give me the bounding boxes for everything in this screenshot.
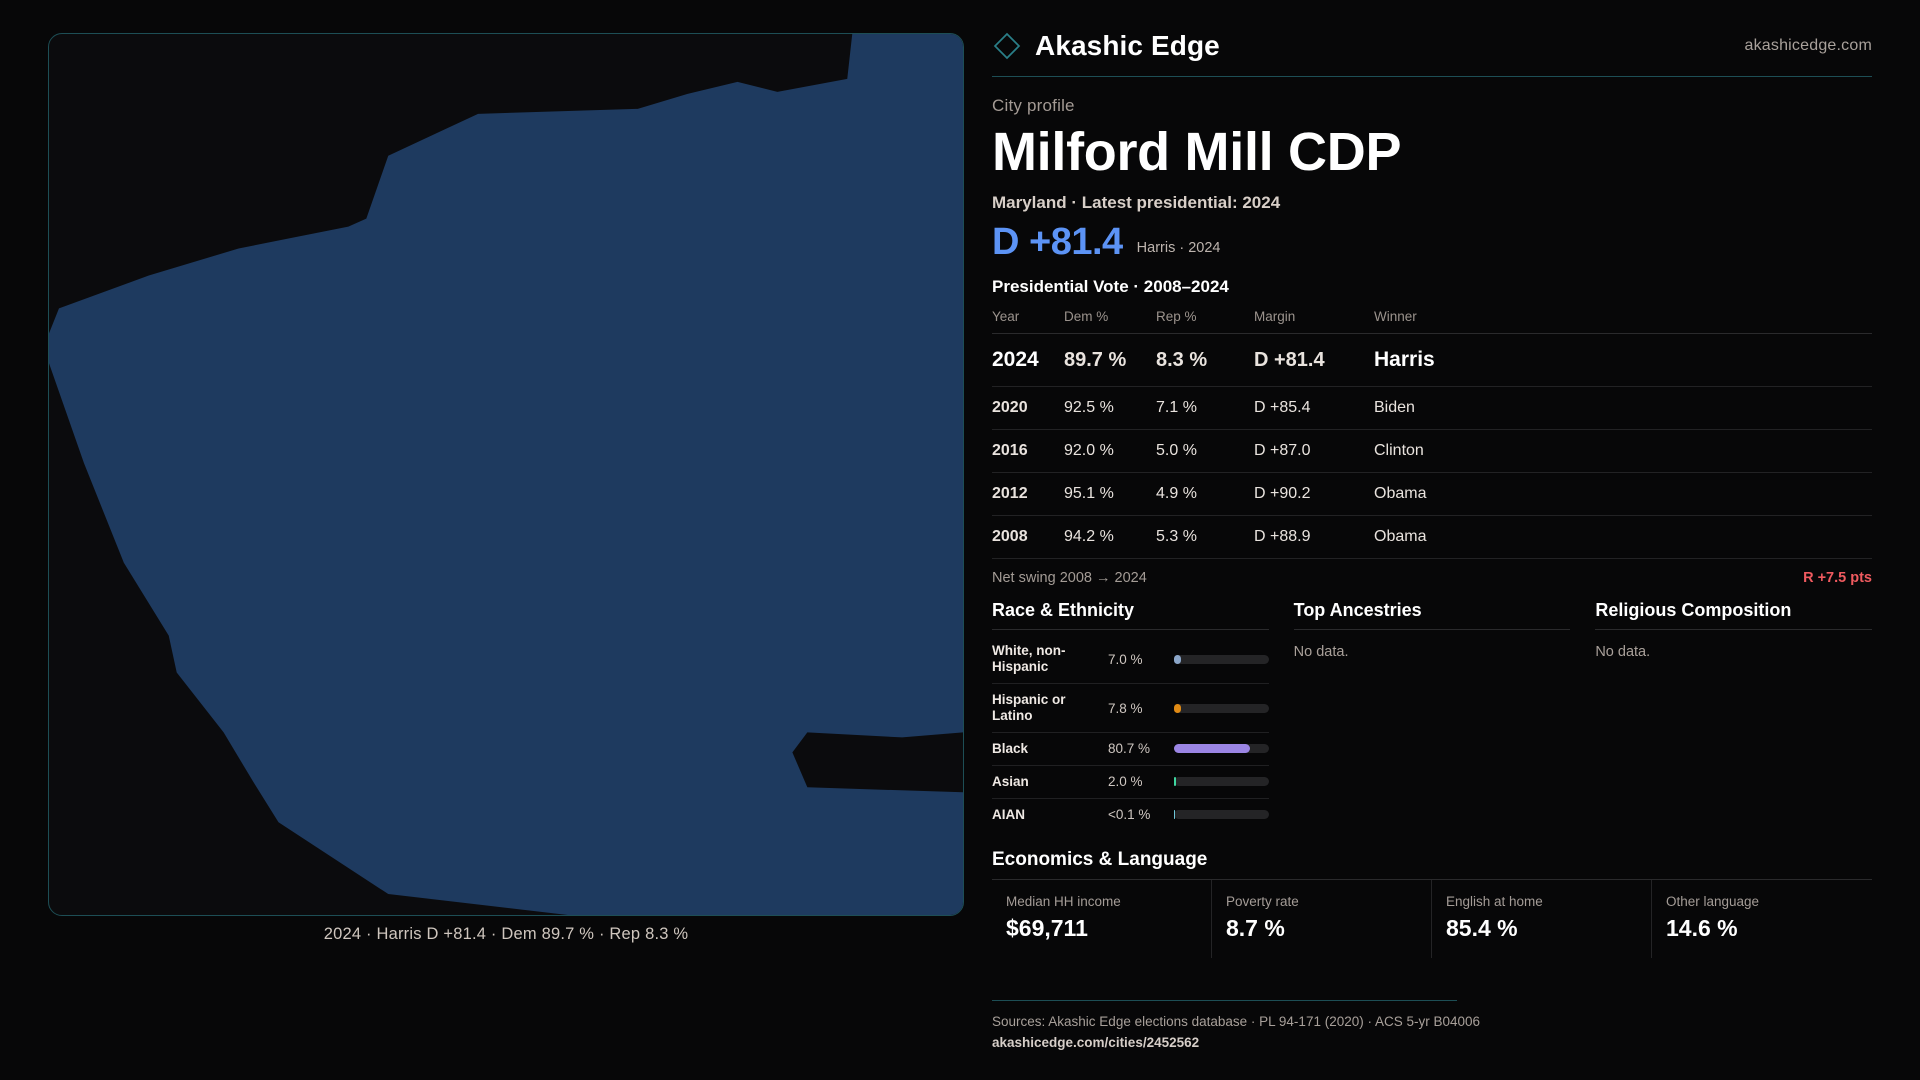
list-item: AIAN <0.1 % [992, 799, 1269, 831]
economics-section-title: Economics & Language [992, 849, 1872, 871]
ancestries-body: No data. [1294, 629, 1571, 660]
demographics-grid: Race & Ethnicity White, non-Hispanic 7.0… [992, 600, 1872, 831]
col-year: Year [992, 309, 1064, 334]
race-bar-track [1174, 744, 1269, 753]
stat-card: Poverty rate 8.7 % [1212, 880, 1432, 958]
cell-year: 2008 [992, 516, 1064, 559]
cell-year: 2012 [992, 473, 1064, 516]
list-item: White, non-Hispanic 7.0 % [992, 635, 1269, 684]
stat-value: $69,711 [1006, 915, 1193, 942]
stat-value: 85.4 % [1446, 915, 1633, 942]
race-label: AIAN [992, 807, 1100, 823]
cell-dem: 95.1 % [1064, 473, 1156, 516]
col-rep: Rep % [1156, 309, 1254, 334]
stat-card: Median HH income $69,711 [992, 880, 1212, 958]
cell-winner: Clinton [1374, 430, 1872, 473]
cell-winner: Obama [1374, 516, 1872, 559]
race-ethnicity-column: Race & Ethnicity White, non-Hispanic 7.0… [992, 600, 1269, 831]
brand-bar: Akashic Edge akashicedge.com [992, 30, 1872, 77]
city-boundary-polygon [49, 34, 963, 915]
table-row[interactable]: 2024 89.7 % 8.3 % D +81.4 Harris [992, 334, 1872, 387]
footer-permalink[interactable]: akashicedge.com/cities/2452562 [992, 1033, 1872, 1054]
headline-margin: D +81.4 Harris · 2024 [992, 223, 1872, 261]
brand-url: akashicedge.com [1744, 37, 1872, 55]
race-bar-track [1174, 810, 1269, 819]
cell-rep: 5.3 % [1156, 516, 1254, 559]
stat-label: English at home [1446, 894, 1633, 909]
table-header-row: Year Dem % Rep % Margin Winner [992, 309, 1872, 334]
cell-margin: D +90.2 [1254, 473, 1374, 516]
presidential-vote-table: Year Dem % Rep % Margin Winner 2024 89.7… [992, 309, 1872, 559]
cell-rep: 7.1 % [1156, 387, 1254, 430]
race-bar-track [1174, 704, 1269, 713]
religion-section-title: Religious Composition [1595, 600, 1872, 629]
brand-left: Akashic Edge [992, 30, 1220, 62]
race-value: 7.0 % [1108, 652, 1166, 667]
stat-value: 8.7 % [1226, 915, 1413, 942]
table-row[interactable]: 2016 92.0 % 5.0 % D +87.0 Clinton [992, 430, 1872, 473]
cell-year: 2024 [992, 334, 1064, 387]
page-title: Milford Mill CDP [992, 123, 1872, 181]
diamond-icon [992, 31, 1022, 61]
race-value: <0.1 % [1108, 807, 1166, 822]
cell-year: 2016 [992, 430, 1064, 473]
list-item: Asian 2.0 % [992, 766, 1269, 799]
map-panel: 2024 · Harris D +81.4 · Dem 89.7 % · Rep… [0, 0, 980, 1080]
map-frame[interactable] [48, 33, 964, 916]
cell-dem: 89.7 % [1064, 334, 1156, 387]
footer-divider [992, 1000, 1457, 1001]
cell-winner: Obama [1374, 473, 1872, 516]
race-section-title: Race & Ethnicity [992, 600, 1269, 629]
net-swing-value: R +7.5 pts [1803, 570, 1872, 586]
race-bar-fill [1174, 744, 1250, 753]
table-row[interactable]: 2020 92.5 % 7.1 % D +85.4 Biden [992, 387, 1872, 430]
race-bar-fill [1174, 777, 1176, 786]
race-bar-fill [1174, 655, 1181, 664]
city-boundary-map [49, 34, 963, 915]
cell-rep: 4.9 % [1156, 473, 1254, 516]
stat-label: Median HH income [1006, 894, 1193, 909]
religion-empty-message: No data. [1595, 635, 1872, 660]
cell-dem: 94.2 % [1064, 516, 1156, 559]
cell-margin: D +85.4 [1254, 387, 1374, 430]
headline-margin-value: D +81.4 [992, 223, 1123, 261]
headline-margin-note: Harris · 2024 [1137, 240, 1221, 261]
race-bar-fill [1174, 704, 1181, 713]
cell-winner: Biden [1374, 387, 1872, 430]
stat-label: Other language [1666, 894, 1854, 909]
cell-rep: 5.0 % [1156, 430, 1254, 473]
vote-section-title: Presidential Vote · 2008–2024 [992, 277, 1872, 297]
cell-dem: 92.0 % [1064, 430, 1156, 473]
list-item: Black 80.7 % [992, 733, 1269, 766]
race-label: White, non-Hispanic [992, 643, 1100, 675]
page-subtitle: Maryland · Latest presidential: 2024 [992, 193, 1872, 213]
col-dem: Dem % [1064, 309, 1156, 334]
race-value: 7.8 % [1108, 701, 1166, 716]
cell-dem: 92.5 % [1064, 387, 1156, 430]
ancestries-empty-message: No data. [1294, 635, 1571, 660]
top-ancestries-column: Top Ancestries No data. [1294, 600, 1571, 831]
stat-card: English at home 85.4 % [1432, 880, 1652, 958]
cell-year: 2020 [992, 387, 1064, 430]
page-kicker: City profile [992, 96, 1872, 116]
brand-name: Akashic Edge [1035, 30, 1220, 62]
details-panel: Akashic Edge akashicedge.com City profil… [980, 0, 1920, 1080]
race-bar-track [1174, 655, 1269, 664]
col-winner: Winner [1374, 309, 1872, 334]
religious-composition-column: Religious Composition No data. [1595, 600, 1872, 831]
stat-label: Poverty rate [1226, 894, 1413, 909]
map-caption: 2024 · Harris D +81.4 · Dem 89.7 % · Rep… [48, 925, 964, 944]
col-margin: Margin [1254, 309, 1374, 334]
list-item: Hispanic or Latino 7.8 % [992, 684, 1269, 733]
ancestries-section-title: Top Ancestries [1294, 600, 1571, 629]
cell-margin: D +81.4 [1254, 334, 1374, 387]
race-value: 2.0 % [1108, 774, 1166, 789]
race-label: Asian [992, 774, 1100, 790]
race-bar-track [1174, 777, 1269, 786]
cell-margin: D +87.0 [1254, 430, 1374, 473]
net-swing-row: Net swing 2008 → 2024 R +7.5 pts [992, 570, 1872, 586]
footer: Sources: Akashic Edge elections database… [992, 1000, 1872, 1054]
net-swing-label: Net swing 2008 → 2024 [992, 570, 1147, 586]
race-value: 80.7 % [1108, 741, 1166, 756]
stat-value: 14.6 % [1666, 915, 1854, 942]
race-list: White, non-Hispanic 7.0 % Hispanic or La… [992, 629, 1269, 831]
stat-card: Other language 14.6 % [1652, 880, 1872, 958]
religion-body: No data. [1595, 629, 1872, 660]
table-row[interactable]: 2012 95.1 % 4.9 % D +90.2 Obama [992, 473, 1872, 516]
economics-grid: Median HH income $69,711 Poverty rate 8.… [992, 879, 1872, 958]
city-profile-page: 2024 · Harris D +81.4 · Dem 89.7 % · Rep… [0, 0, 1920, 1080]
race-label: Hispanic or Latino [992, 692, 1100, 724]
footer-sources: Sources: Akashic Edge elections database… [992, 1012, 1872, 1033]
cell-margin: D +88.9 [1254, 516, 1374, 559]
race-label: Black [992, 741, 1100, 757]
cell-rep: 8.3 % [1156, 334, 1254, 387]
table-row[interactable]: 2008 94.2 % 5.3 % D +88.9 Obama [992, 516, 1872, 559]
cell-winner: Harris [1374, 334, 1872, 387]
